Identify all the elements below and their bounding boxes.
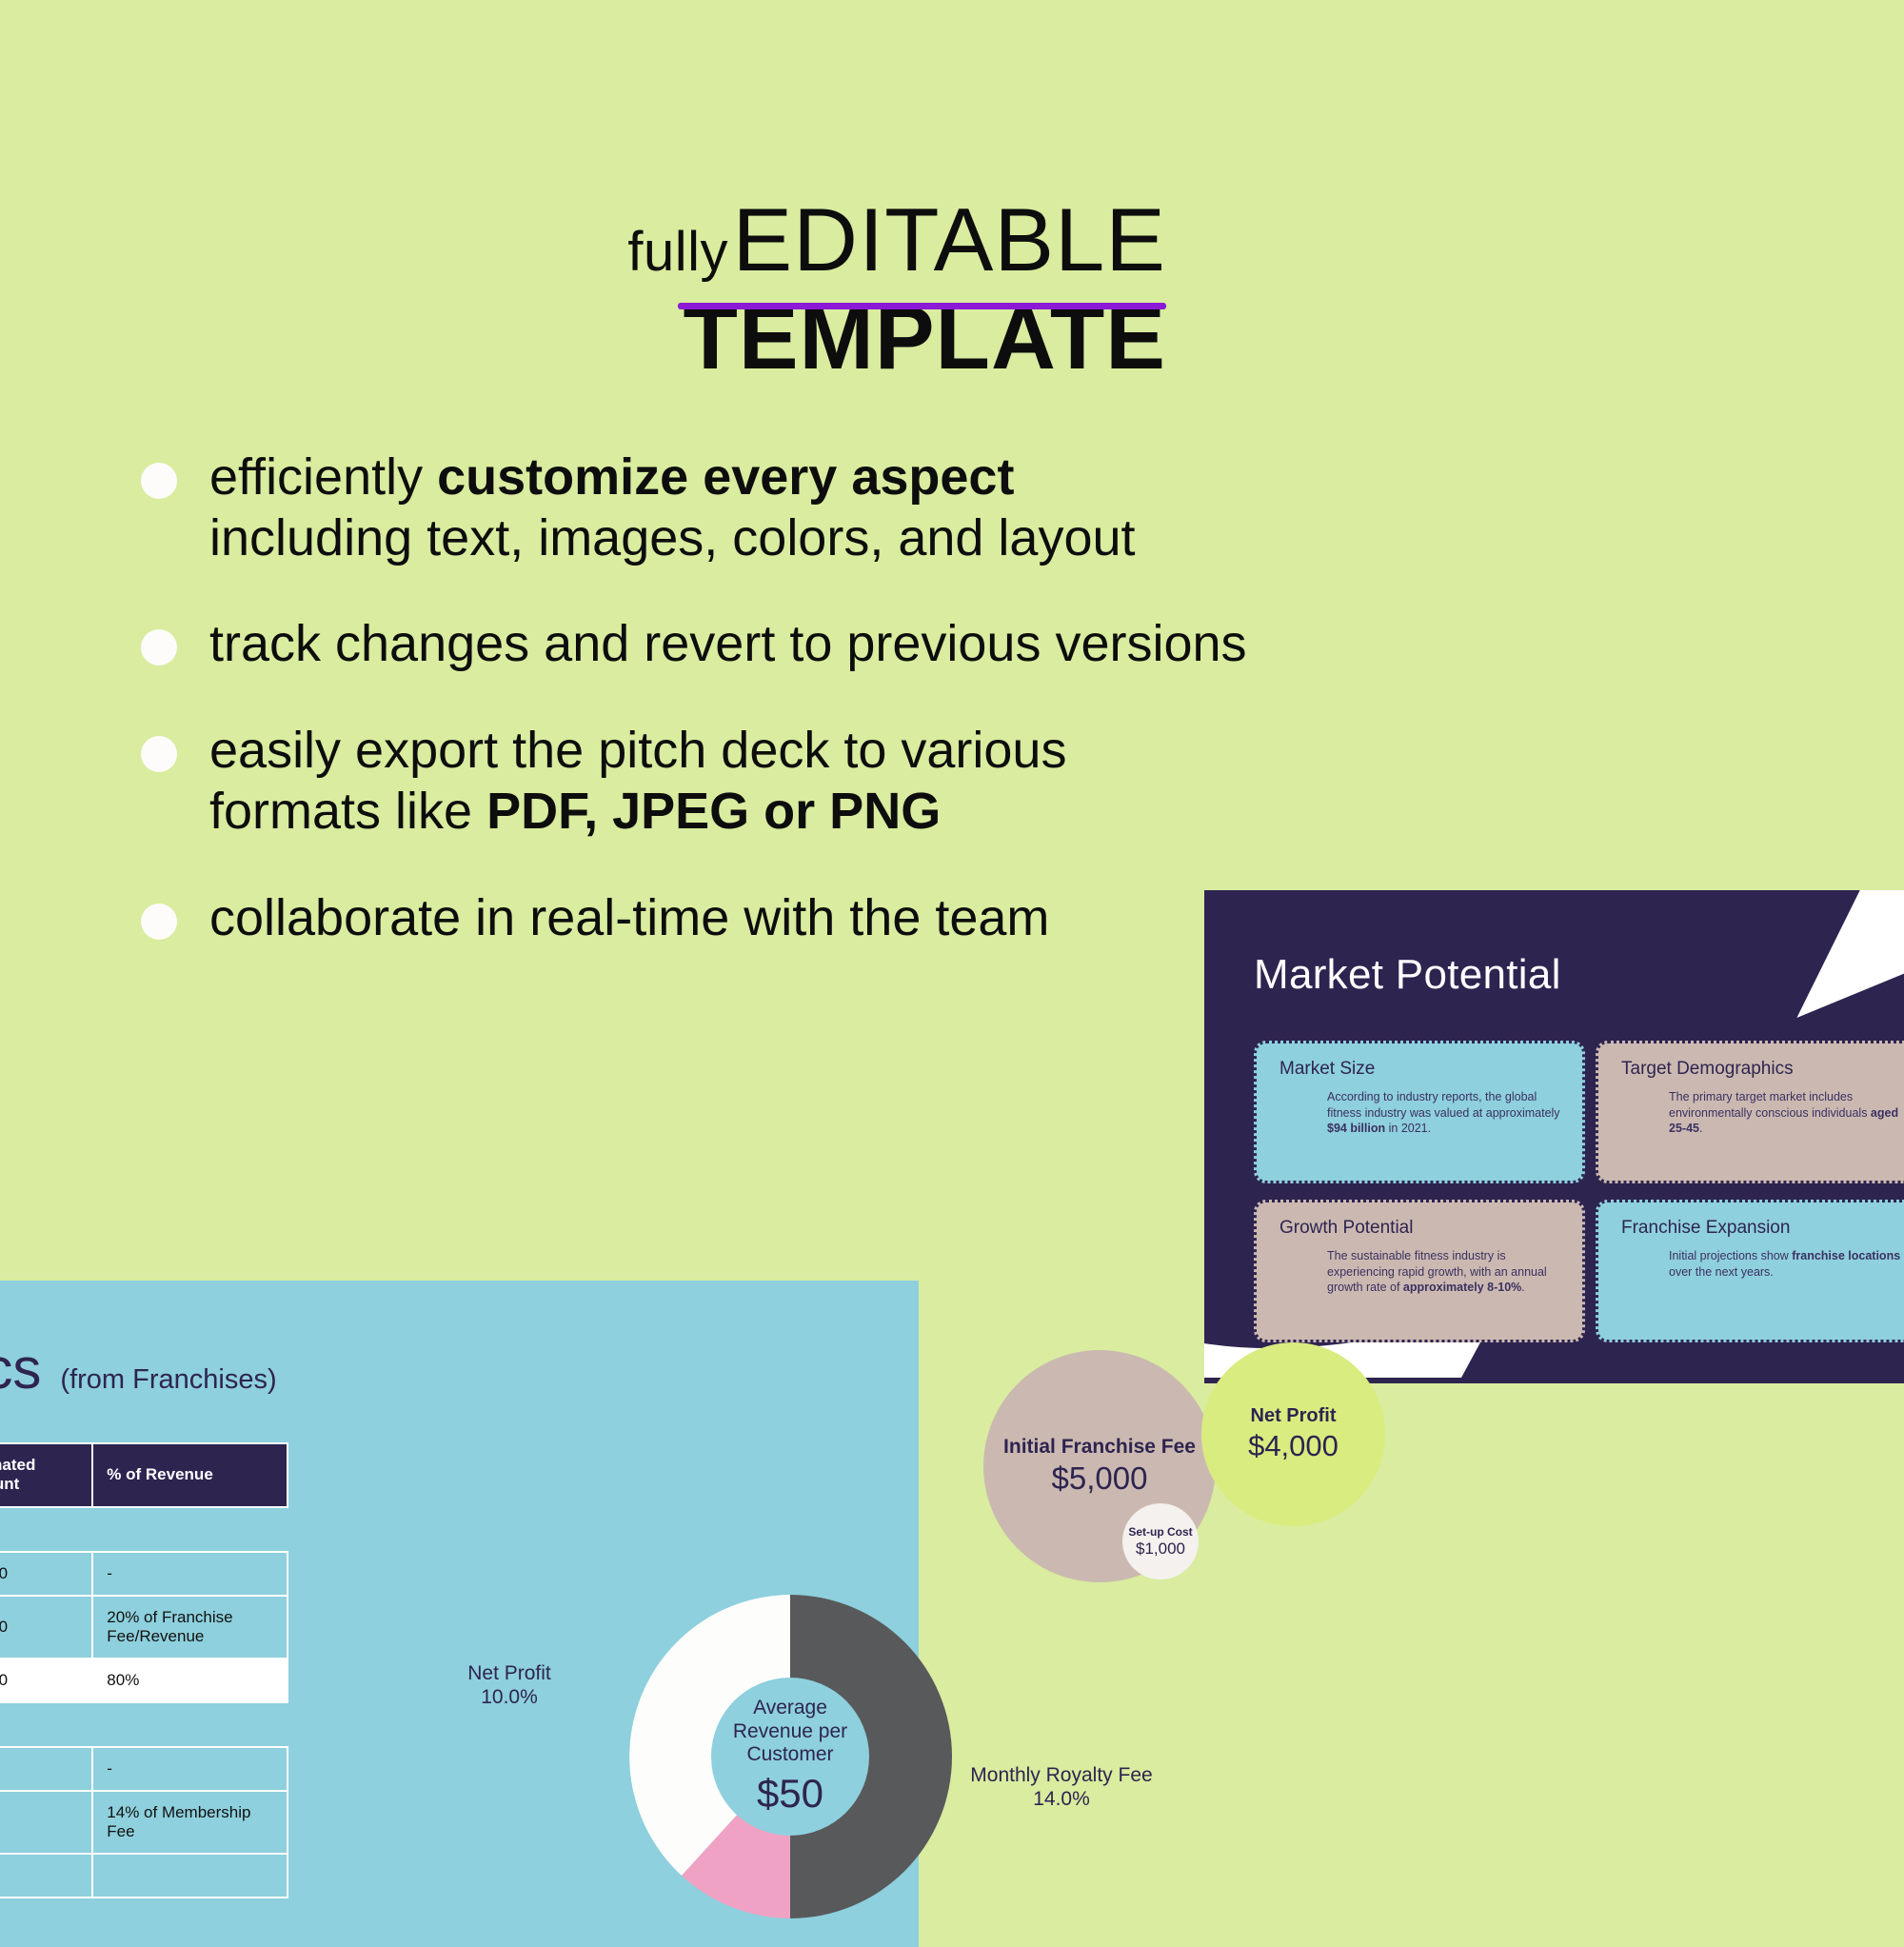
- card-body: Initial projections show franchise locat…: [1669, 1248, 1904, 1280]
- donut-label-pct: 10.0%: [438, 1685, 581, 1709]
- feature-bullet-list: efficiently customize every aspect inclu…: [141, 447, 1264, 994]
- card-title: Target Demographics: [1621, 1059, 1904, 1080]
- section-label-recurring: Recurring: [0, 1702, 288, 1747]
- card-body-bold: $94 billion: [1327, 1122, 1385, 1135]
- corner-swoosh-decoration-icon: [1766, 890, 1904, 1018]
- bullet-dot-icon: [141, 736, 177, 772]
- bubble-value: $5,000: [1052, 1460, 1148, 1497]
- donut-label-name: Monthly Royalty Fee: [962, 1763, 1161, 1787]
- col-header-estimated-amount: Estimated Amount: [0, 1443, 92, 1507]
- table-header: Estimated Amount % of Revenue: [0, 1443, 288, 1507]
- cell-pct: 80%: [92, 1659, 288, 1702]
- table-section-row: One Time: [0, 1507, 288, 1552]
- cell-amount: $7: [0, 1791, 92, 1854]
- page-subtitle: (from Franchises): [60, 1364, 276, 1396]
- cell-pct: -: [92, 1747, 288, 1791]
- cell-amount: [0, 1854, 92, 1897]
- table-row: e to $1,000 20% of Franchise Fee/Revenue: [0, 1596, 288, 1659]
- col-header-pct-revenue: % of Revenue: [92, 1443, 288, 1507]
- cell-amount: $4,000: [0, 1659, 92, 1702]
- section-label-one-time: One Time: [0, 1507, 288, 1552]
- table-row-highlighted: $4,000 80%: [0, 1659, 288, 1702]
- table-row: $5,000 -: [0, 1552, 288, 1596]
- donut-label-net-profit: Net Profit 10.0%: [438, 1661, 581, 1709]
- donut-label-name: Net Profit: [438, 1661, 581, 1685]
- headline-small-word: fully: [627, 221, 728, 283]
- bubble-value: $1,000: [1136, 1540, 1185, 1559]
- table-header-row: Estimated Amount % of Revenue: [0, 1443, 288, 1507]
- bullet-bold-text: PDF, JPEG or PNG: [486, 783, 941, 840]
- bullet-plain-text: track changes and revert to previous ver…: [209, 615, 1247, 672]
- bubble-label: Initial Franchise Fee: [1003, 1436, 1196, 1459]
- donut-label-pct: 14.0%: [962, 1787, 1161, 1811]
- card-target-demographics[interactable]: Target Demographics The primary target m…: [1596, 1041, 1904, 1183]
- card-growth-potential[interactable]: Growth Potential The sustainable fitness…: [1254, 1200, 1585, 1342]
- cell-amount: $50: [0, 1747, 92, 1791]
- card-body-post: in 2021.: [1385, 1122, 1431, 1135]
- page-title: Market Potential: [1254, 951, 1561, 999]
- donut-label-monthly-royalty-fee: Monthly Royalty Fee 14.0%: [962, 1763, 1161, 1811]
- card-body: The primary target market includes envir…: [1669, 1089, 1904, 1137]
- donut-center-text: Average Revenue per Customer: [711, 1697, 869, 1766]
- card-body-pre: The primary target market includes envir…: [1669, 1090, 1871, 1120]
- table-row: lty Fee e) $7 14% of Membership Fee: [0, 1791, 288, 1854]
- card-market-size[interactable]: Market Size According to industry report…: [1254, 1041, 1585, 1183]
- bullet-second-line: formats like: [209, 783, 486, 840]
- donut-center-value: $50: [757, 1771, 823, 1817]
- list-item: collaborate in real-time with the team: [141, 888, 1264, 949]
- bullet-plain-text: easily export the pitch deck to various: [209, 722, 1066, 779]
- card-body: According to industry reports, the globa…: [1327, 1089, 1563, 1137]
- bubble-label: Set-up Cost: [1128, 1525, 1192, 1539]
- headline-line-1: fully EDITABLE: [627, 195, 1166, 285]
- page-title: conomics: [0, 1336, 41, 1401]
- table-row: [0, 1854, 288, 1897]
- bubble-set-up-cost: Set-up Cost $1,000: [1122, 1503, 1199, 1579]
- card-body-bold: approximately 8-10%: [1403, 1281, 1521, 1294]
- list-item: efficiently customize every aspect inclu…: [141, 447, 1264, 568]
- list-item: easily export the pitch deck to various …: [141, 721, 1264, 842]
- cell-pct: -: [92, 1552, 288, 1596]
- bullet-text: collaborate in real-time with the team: [209, 888, 1049, 949]
- cell-pct: [92, 1854, 288, 1897]
- card-title: Market Size: [1279, 1059, 1563, 1080]
- table-section-row: Recurring: [0, 1702, 288, 1747]
- cell-pct: 20% of Franchise Fee/Revenue: [92, 1596, 288, 1659]
- bullet-text: track changes and revert to previous ver…: [209, 614, 1247, 675]
- bullet-bold-text: customize every aspect: [437, 448, 1014, 506]
- card-body-post: .: [1699, 1122, 1702, 1135]
- unit-economics-table: Estimated Amount % of Revenue One Time $…: [0, 1442, 288, 1898]
- bullet-plain-text: efficiently: [209, 448, 437, 506]
- card-body: The sustainable fitness industry is expe…: [1327, 1248, 1563, 1296]
- bullet-dot-icon: [141, 463, 177, 499]
- list-item: track changes and revert to previous ver…: [141, 614, 1264, 675]
- card-body-pre: Initial projections show: [1669, 1249, 1792, 1262]
- card-body-post: .: [1521, 1281, 1524, 1294]
- bullet-second-line: including text, images, colors, and layo…: [209, 509, 1136, 566]
- card-franchise-expansion[interactable]: Franchise Expansion Initial projections …: [1596, 1200, 1904, 1342]
- bullet-dot-icon: [141, 904, 177, 940]
- bubble-label: Net Profit: [1251, 1405, 1337, 1427]
- card-body-bold: franchise locations: [1792, 1249, 1900, 1262]
- market-potential-slide-preview[interactable]: Market Potential Market Size According t…: [1204, 890, 1904, 1383]
- bullet-dot-icon: [141, 629, 177, 666]
- cell-amount: $1,000: [0, 1596, 92, 1659]
- bullet-text: easily export the pitch deck to various …: [209, 721, 1066, 842]
- cell-amount: $5,000: [0, 1552, 92, 1596]
- donut-center-label: Average Revenue per Customer $50: [711, 1678, 869, 1836]
- table-body: One Time $5,000 - e to $1,000 20% of Fra…: [0, 1507, 288, 1897]
- card-title: Growth Potential: [1279, 1218, 1563, 1239]
- table-row: $50 -: [0, 1747, 288, 1791]
- card-body-pre: According to industry reports, the globa…: [1327, 1090, 1560, 1120]
- card-body-post: over the next years.: [1669, 1265, 1774, 1279]
- bullet-text: efficiently customize every aspect inclu…: [209, 447, 1136, 568]
- card-title: Franchise Expansion: [1621, 1218, 1904, 1239]
- bubble-net-profit: Net Profit $4,000: [1201, 1342, 1385, 1526]
- headline-underline: [678, 303, 1166, 309]
- cell-pct: 14% of Membership Fee: [92, 1791, 288, 1854]
- market-cards-grid: Market Size According to industry report…: [1254, 1041, 1904, 1342]
- headline-editable-word: EDITABLE: [732, 189, 1166, 289]
- donut-chart: Average Revenue per Customer $50: [628, 1595, 952, 1918]
- bubble-value: $4,000: [1248, 1429, 1339, 1463]
- bullet-plain-text: collaborate in real-time with the team: [209, 889, 1049, 946]
- slide-title-row: conomics (from Franchises): [0, 1336, 277, 1401]
